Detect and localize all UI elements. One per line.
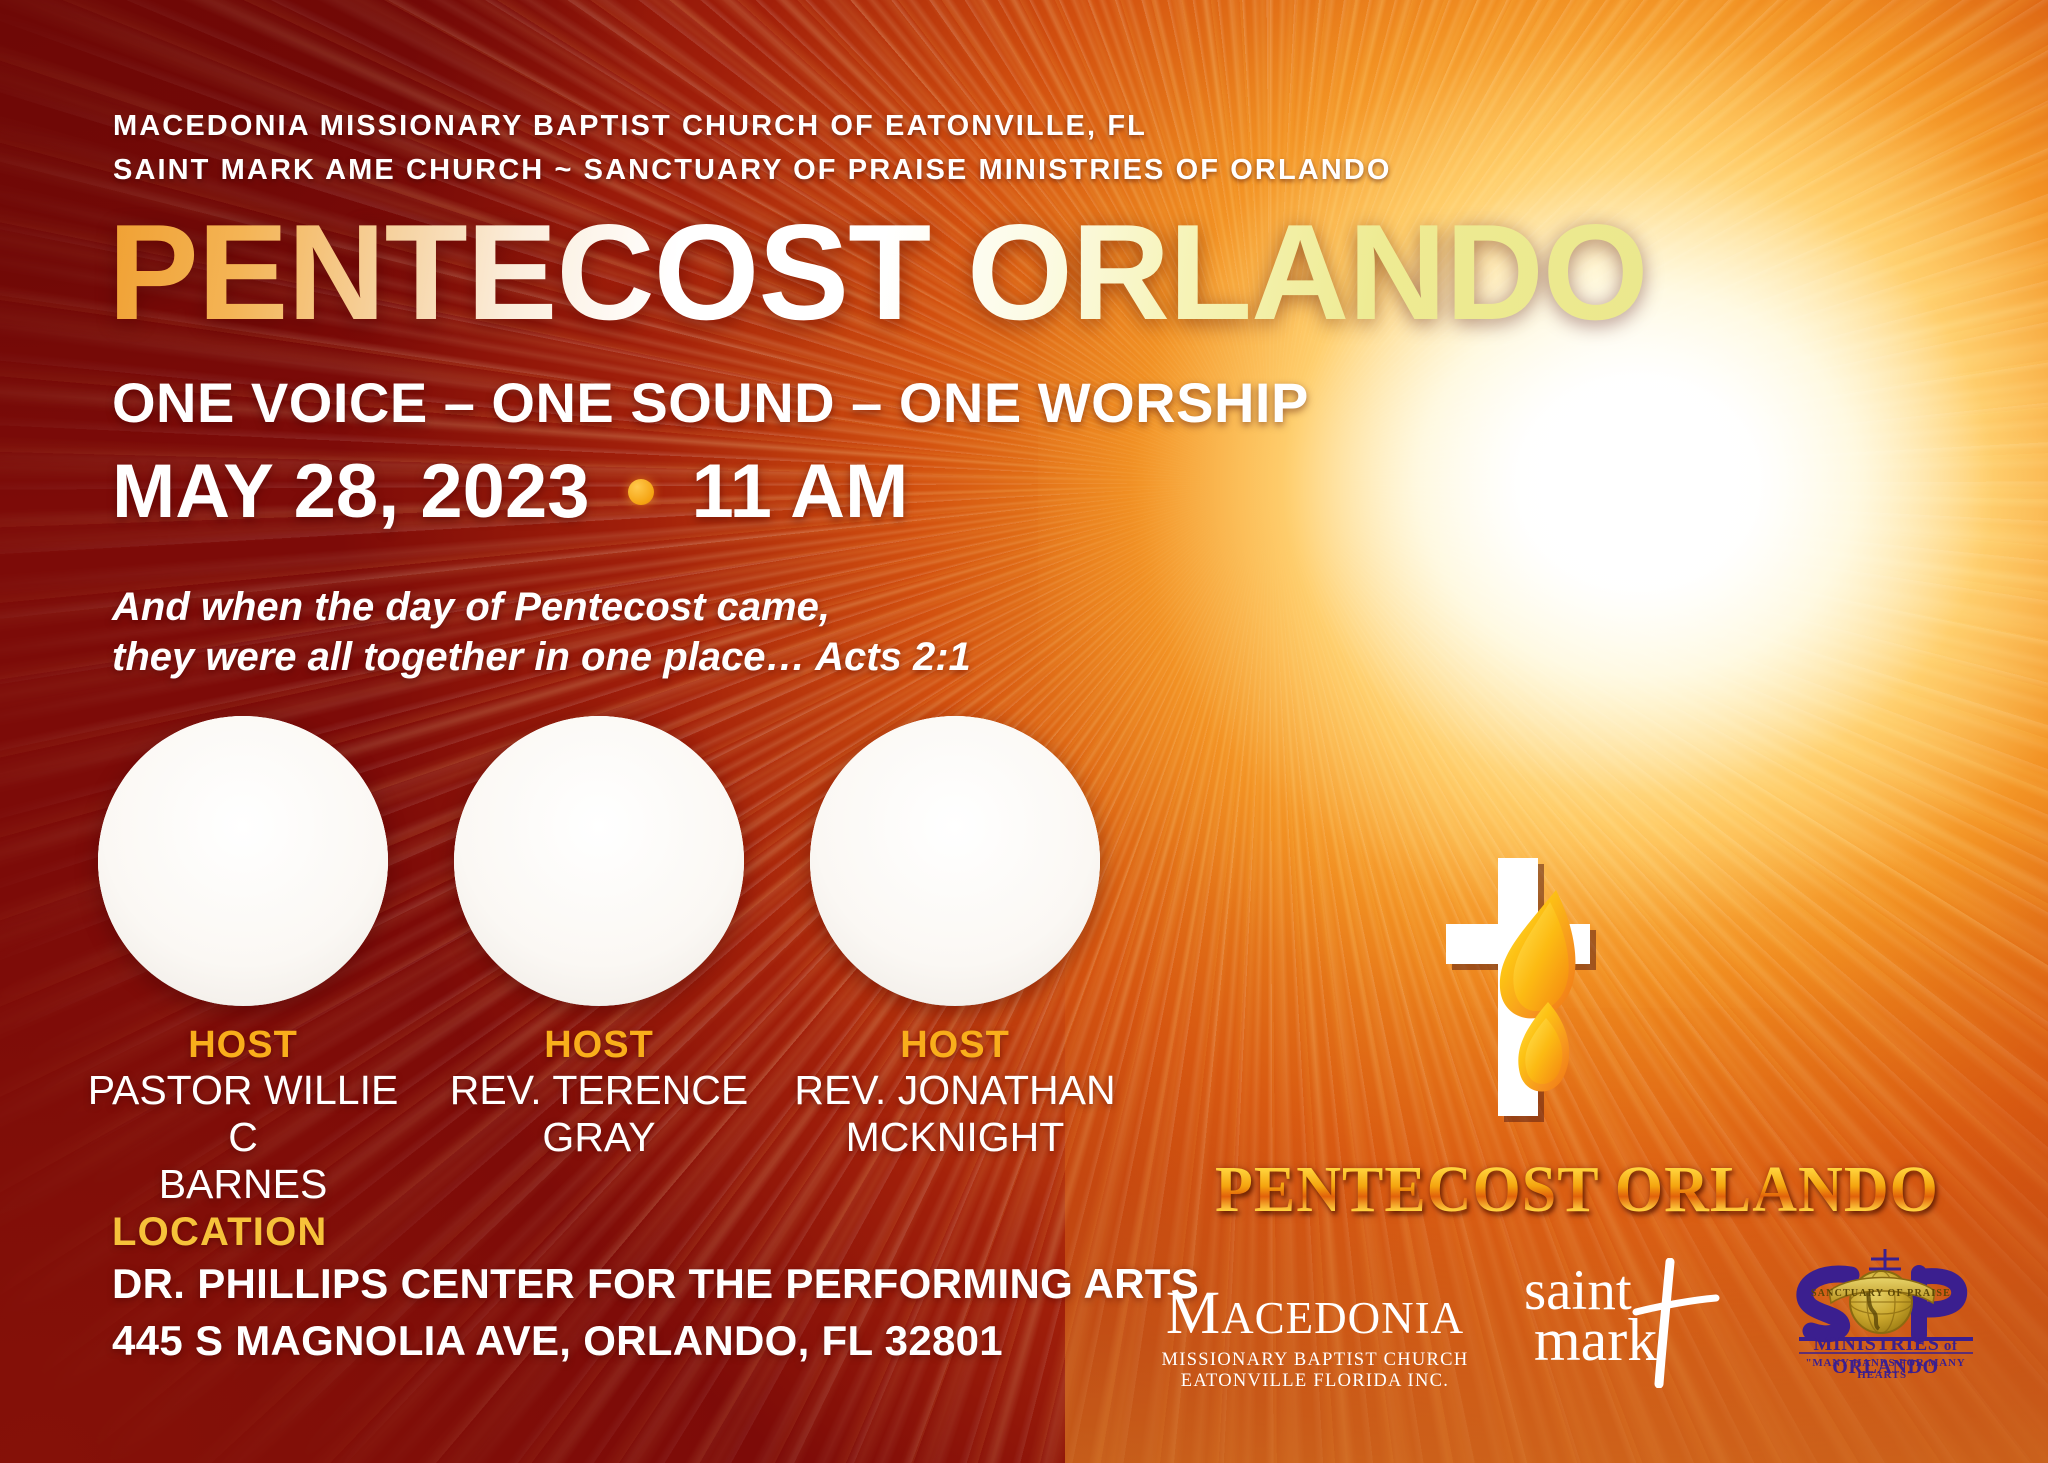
tagline: ONE VOICE – ONE SOUND – ONE WORSHIP bbox=[112, 370, 1309, 435]
organization-line-1: MACEDONIA MISSIONARY BAPTIST CHURCH OF E… bbox=[113, 104, 1392, 148]
hosts-row: HOST PASTOR WILLIE C BARNES bbox=[78, 716, 1120, 1208]
host-role-label: HOST bbox=[188, 1024, 298, 1067]
logo-sanctuary-of-praise: SANCTUARY OF PRAISE MINISTRIES of ORLAND… bbox=[1793, 1247, 1978, 1382]
date-time-block: MAY 28, 2023 11 AM bbox=[112, 448, 908, 535]
location-block: LOCATION DR. PHILLIPS CENTER FOR THE PER… bbox=[112, 1210, 1199, 1369]
scripture-line-1: And when the day of Pentecost came, bbox=[112, 582, 971, 632]
logo-macedonia: MACEDONIA MISSIONARY BAPTIST CHURCH EATO… bbox=[1140, 1283, 1490, 1392]
logo-macedonia-rest: ACEDONIA bbox=[1221, 1293, 1464, 1343]
bullet-dot-icon bbox=[628, 479, 654, 505]
host-card: HOST REV. JONATHAN MCKNIGHT bbox=[790, 716, 1120, 1208]
event-time: 11 AM bbox=[692, 448, 909, 535]
cross-flame-icon bbox=[1428, 838, 1643, 1128]
logo-sop-of: of bbox=[1940, 1338, 1958, 1354]
host-name-line-1: PASTOR WILLIE C bbox=[78, 1067, 408, 1161]
avatar bbox=[454, 716, 744, 1006]
logo-saint-mark: saint mark bbox=[1520, 1258, 1750, 1388]
avatar bbox=[98, 716, 388, 1006]
event-date: MAY 28, 2023 bbox=[112, 448, 590, 535]
event-flyer: MACEDONIA MISSIONARY BAPTIST CHURCH OF E… bbox=[0, 0, 2048, 1463]
host-name-line-1: REV. JONATHAN bbox=[794, 1067, 1115, 1114]
host-name-line-2: GRAY bbox=[450, 1114, 749, 1161]
host-name: PASTOR WILLIE C BARNES bbox=[78, 1067, 408, 1208]
host-card: HOST PASTOR WILLIE C BARNES bbox=[78, 716, 408, 1208]
logo-sop-ministries: MINISTRIES bbox=[1813, 1333, 1939, 1355]
logo-macedonia-initial: M bbox=[1166, 1280, 1221, 1347]
host-name-line-2: MCKNIGHT bbox=[794, 1114, 1115, 1161]
svg-text:SANCTUARY OF PRAISE: SANCTUARY OF PRAISE bbox=[1811, 1288, 1951, 1299]
host-card: HOST REV. TERENCE GRAY bbox=[434, 716, 764, 1208]
pentecost-orlando-gold-logo: PENTECOST ORLANDO bbox=[1215, 1153, 1939, 1228]
host-role-label: HOST bbox=[900, 1024, 1010, 1067]
page-title: PENTECOST ORLANDO bbox=[108, 204, 1648, 340]
host-name-line-1: REV. TERENCE bbox=[450, 1067, 749, 1114]
host-role-label: HOST bbox=[544, 1024, 654, 1067]
avatar bbox=[810, 716, 1100, 1006]
host-name: REV. JONATHAN MCKNIGHT bbox=[794, 1067, 1115, 1161]
location-address: 445 S MAGNOLIA AVE, ORLANDO, FL 32801 bbox=[112, 1312, 1199, 1369]
location-label: LOCATION bbox=[112, 1210, 1199, 1255]
scripture-line-2: they were all together in one place… Act… bbox=[112, 632, 971, 682]
logo-sop-tagline: "MANY HANDS FOR MANY HEARTS" bbox=[1793, 1357, 1978, 1381]
logo-macedonia-name: MACEDONIA bbox=[1140, 1283, 1490, 1344]
logo-saint-mark-line-2: mark bbox=[1534, 1310, 1657, 1370]
scripture-quote: And when the day of Pentecost came, they… bbox=[112, 582, 971, 682]
organization-line-2: SAINT MARK AME CHURCH ~ SANCTUARY OF PRA… bbox=[113, 148, 1392, 192]
location-venue: DR. PHILLIPS CENTER FOR THE PERFORMING A… bbox=[112, 1255, 1199, 1312]
host-name-line-2: BARNES bbox=[78, 1161, 408, 1208]
host-name: REV. TERENCE GRAY bbox=[450, 1067, 749, 1161]
logo-macedonia-subtitle: MISSIONARY BAPTIST CHURCH EATONVILLE FLO… bbox=[1140, 1350, 1490, 1392]
organizations-block: MACEDONIA MISSIONARY BAPTIST CHURCH OF E… bbox=[113, 104, 1392, 192]
